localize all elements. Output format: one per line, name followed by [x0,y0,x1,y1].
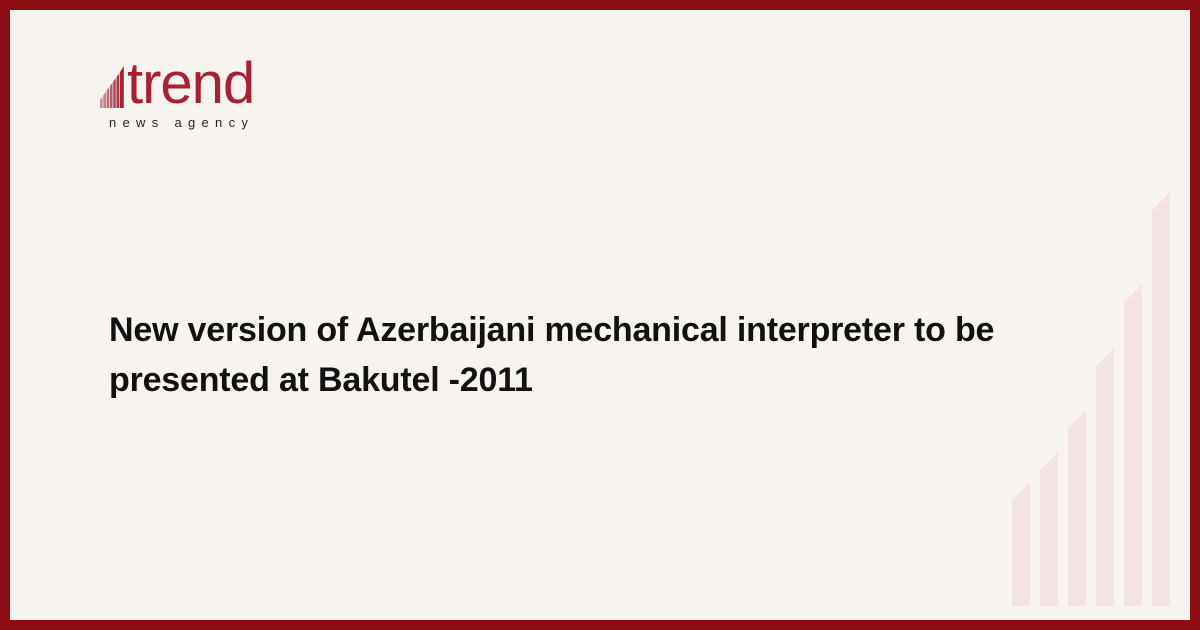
logo-tagline: news agency [109,115,400,130]
logo-row: trend [100,52,400,108]
logo-wordmark: trend [127,56,254,112]
article-headline: New version of Azerbaijani mechanical in… [109,305,1109,405]
brand-logo[interactable]: trend news agency [100,52,400,130]
card-inner: trend news agency New version of Azerbai… [10,10,1190,620]
social-share-card: trend news agency New version of Azerbai… [0,0,1200,630]
trend-ascending-bars-mark-icon [100,60,126,108]
